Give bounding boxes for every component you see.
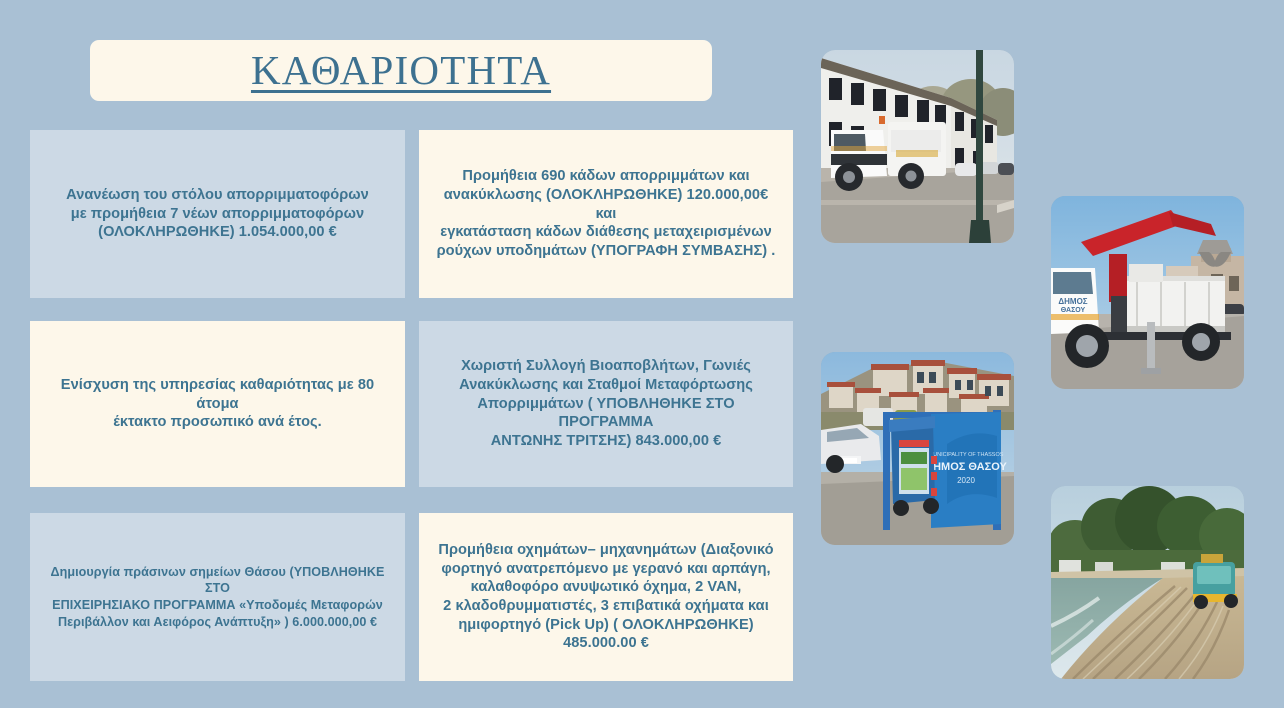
card-vehicles-machinery: Προμήθεια οχημάτων– μηχανημάτων (Διαξονι…	[419, 513, 793, 681]
crane-dump-truck-image: ΔΗΜΟΣ ΘΑΣΟΥ	[1051, 196, 1244, 389]
page-title: ΚΑΘΑΡΙΟΤΗΤΑ	[251, 50, 551, 91]
card-text: Ενίσχυση της υπηρεσίας καθαριότητας με 8…	[44, 376, 391, 432]
svg-text:2020: 2020	[957, 476, 975, 485]
card-staff-reinforcement: Ενίσχυση της υπηρεσίας καθαριότητας με 8…	[30, 321, 405, 487]
slide-title-box: ΚΑΘΑΡΙΟΤΗΤΑ	[90, 40, 712, 101]
card-text: Χωριστή Συλλογή Βιοαποβλήτων, Γωνιές Ανα…	[433, 357, 779, 450]
card-text: Ανανέωση του στόλου απορριμματοφόρων με …	[66, 186, 369, 242]
svg-text:ΔΗΜΟΣ ΘΑΣΟΥ: ΔΗΜΟΣ ΘΑΣΟΥ	[925, 461, 1007, 473]
svg-text:ΔΗΜΟΣ: ΔΗΜΟΣ	[1058, 297, 1087, 306]
blue-recycling-bins-image: MUNICIPALITY OF THASSOS ΔΗΜΟΣ ΘΑΣΟΥ 2020	[821, 352, 1014, 545]
photo-garbage-truck-street	[821, 50, 1014, 243]
svg-text:ΘΑΣΟΥ: ΘΑΣΟΥ	[1061, 307, 1086, 314]
card-bins-supply: Προμήθεια 690 κάδων απορριμμάτων και ανα…	[419, 130, 793, 298]
card-green-points: Δημιουργία πράσινων σημείων Θάσου (ΥΠΟΒΛ…	[30, 513, 405, 681]
slide-canvas: ΚΑΘΑΡΙΟΤΗΤΑ Ανανέωση του στόλου απορριμμ…	[0, 0, 1284, 708]
garbage-truck-street-image	[821, 50, 1014, 243]
card-fleet-renewal: Ανανέωση του στόλου απορριμματοφόρων με …	[30, 130, 405, 298]
card-text: Δημιουργία πράσινων σημείων Θάσου (ΥΠΟΒΛ…	[44, 564, 391, 631]
card-biowaste-collection: Χωριστή Συλλογή Βιοαποβλήτων, Γωνιές Ανα…	[419, 321, 793, 487]
beach-cleaning-machine-image	[1051, 486, 1244, 679]
card-text: Προμήθεια οχημάτων– μηχανημάτων (Διαξονι…	[438, 541, 773, 653]
card-text: Προμήθεια 690 κάδων απορριμμάτων και ανα…	[433, 167, 779, 260]
photo-blue-recycling-bins: MUNICIPALITY OF THASSOS ΔΗΜΟΣ ΘΑΣΟΥ 2020	[821, 352, 1014, 545]
photo-crane-dump-truck: ΔΗΜΟΣ ΘΑΣΟΥ	[1051, 196, 1244, 389]
svg-text:MUNICIPALITY OF THASSOS: MUNICIPALITY OF THASSOS	[929, 452, 1004, 458]
photo-beach-cleaning-machine	[1051, 486, 1244, 679]
